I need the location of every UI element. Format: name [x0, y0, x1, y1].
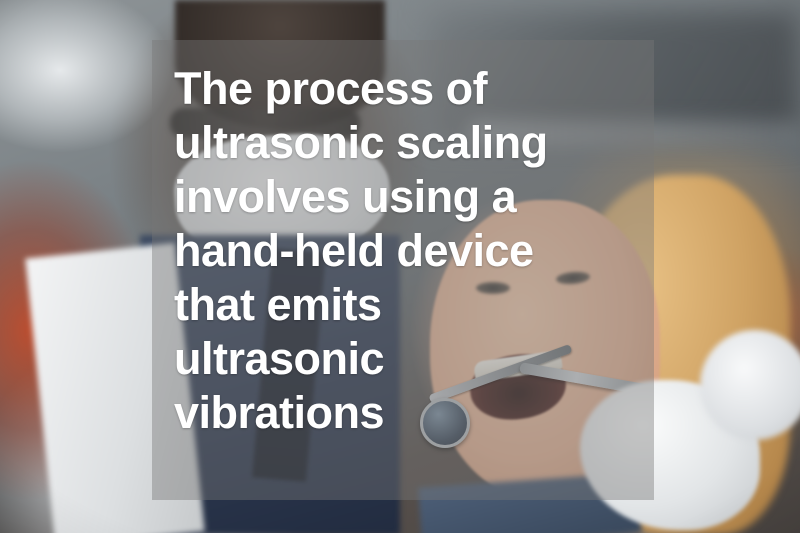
caption-text: The process of ultrasonic scaling involv… [174, 62, 654, 440]
caption-overlay-box: The process of ultrasonic scaling involv… [152, 40, 654, 500]
image-canvas: The process of ultrasonic scaling involv… [0, 0, 800, 533]
